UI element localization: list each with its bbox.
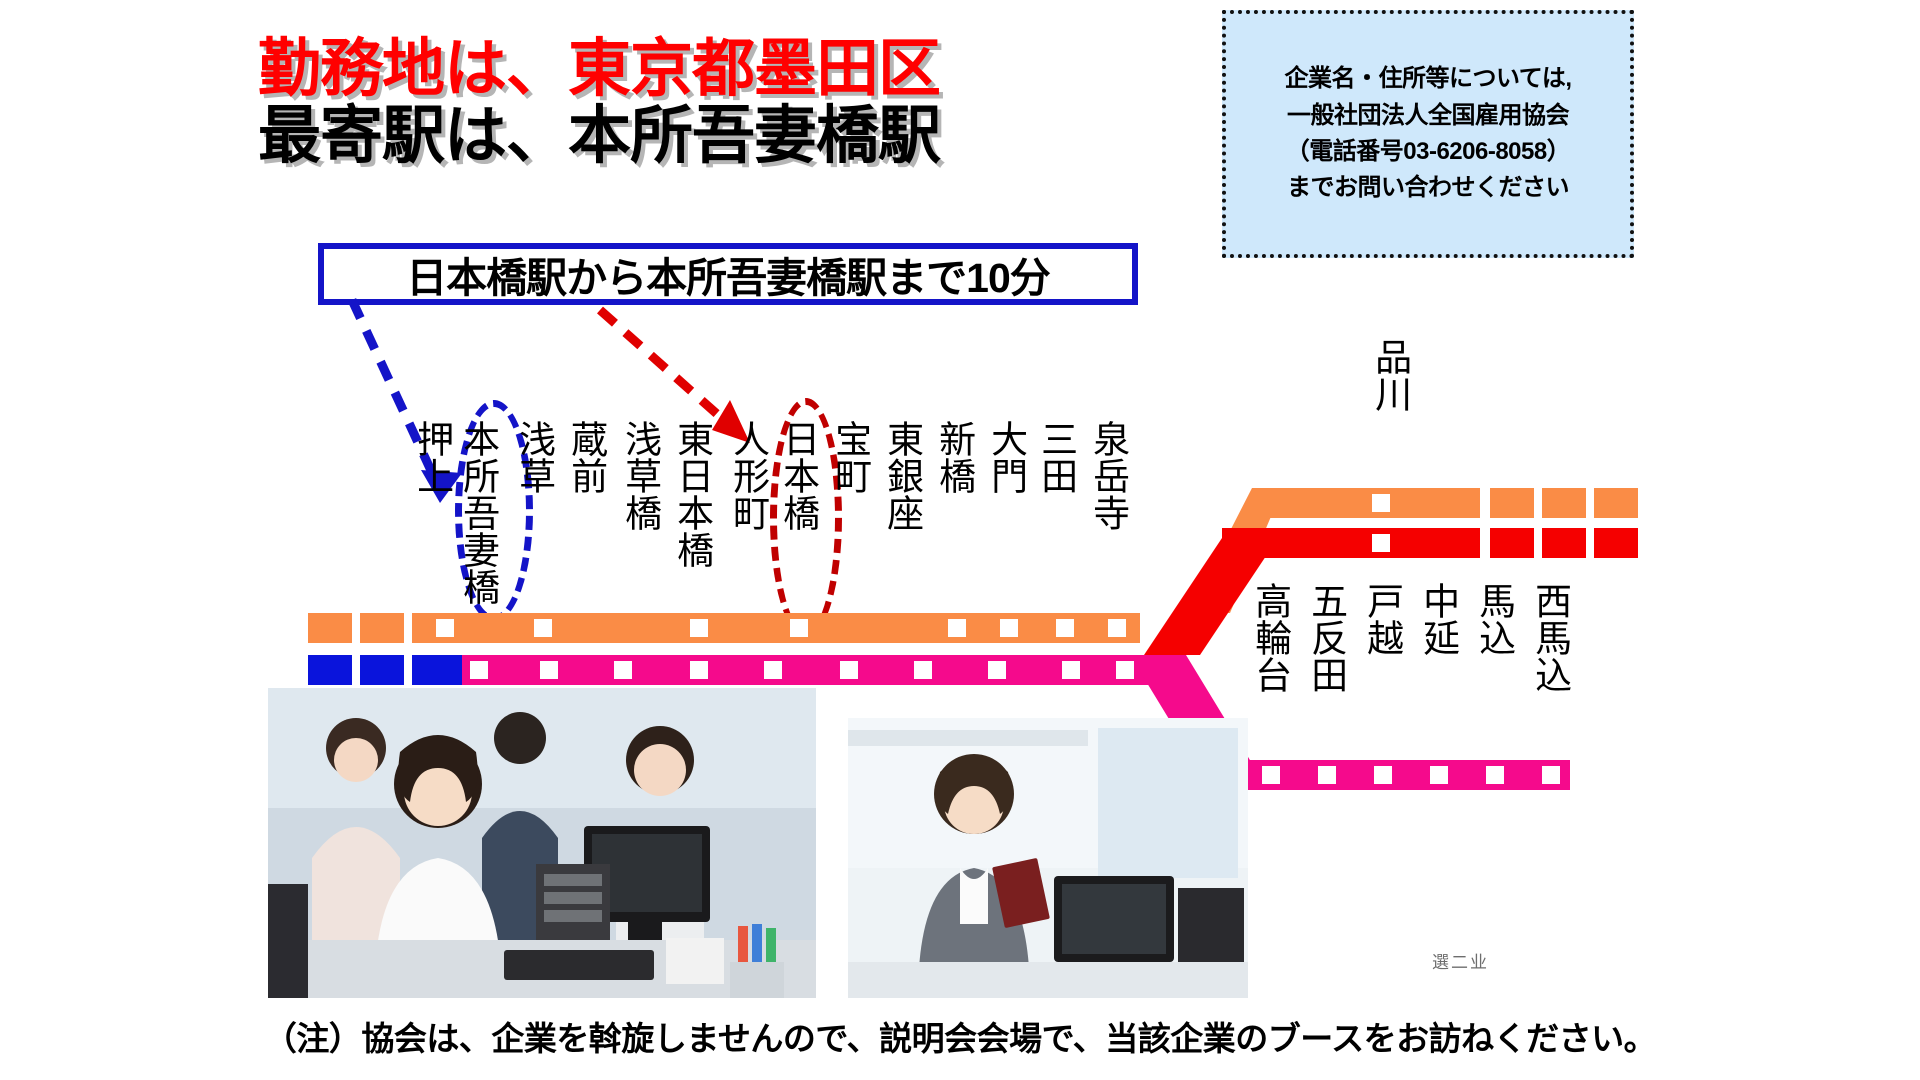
branch-station-label-2: 五反田 <box>1306 582 1345 693</box>
station-label-6: 人形町 <box>728 420 767 531</box>
branch-station-label-3: 戸越 <box>1362 582 1401 656</box>
branch-station-label-1: 高輪台 <box>1250 582 1289 693</box>
station-label-7: 日本橋 <box>778 420 817 531</box>
station-label-12: 三田 <box>1036 420 1075 494</box>
station-label-13: 泉岳寺 <box>1088 420 1127 531</box>
branch-station-label-5: 馬込 <box>1474 582 1513 656</box>
footer-caption: （注）協会は、企業を斡旋しませんので、説明会会場で、当該企業のブースをお訪ねくだ… <box>0 1012 1920 1060</box>
office-photo-right <box>848 718 1248 998</box>
branch-station-label-0: 品川 <box>1370 338 1409 412</box>
station-label-3: 蔵前 <box>566 420 605 494</box>
station-label-2: 浅草 <box>514 420 553 494</box>
slide-canvas: 勤務地は、東京都墨田区 最寄駅は、本所吾妻橋駅 企業名・住所等については, 一般… <box>0 0 1920 1080</box>
branch-station-label-6: 西馬込 <box>1530 582 1569 693</box>
station-label-10: 新橋 <box>934 420 973 494</box>
station-label-11: 大門 <box>986 420 1025 494</box>
station-label-9: 東銀座 <box>882 420 921 531</box>
office-photo-right-graphic <box>848 718 1248 998</box>
station-label-5: 東日本橋 <box>672 420 711 568</box>
station-label-0: 押上 <box>412 420 451 494</box>
station-label-8: 宝町 <box>830 420 869 494</box>
branch-station-label-4: 中延 <box>1418 582 1457 656</box>
station-label-1: 本所吾妻橋 <box>458 420 497 605</box>
watermark-text: 選二业 <box>1432 948 1489 973</box>
station-label-4: 浅草橋 <box>620 420 659 531</box>
office-photo-left-graphic <box>268 688 816 998</box>
office-photo-left <box>268 688 816 998</box>
